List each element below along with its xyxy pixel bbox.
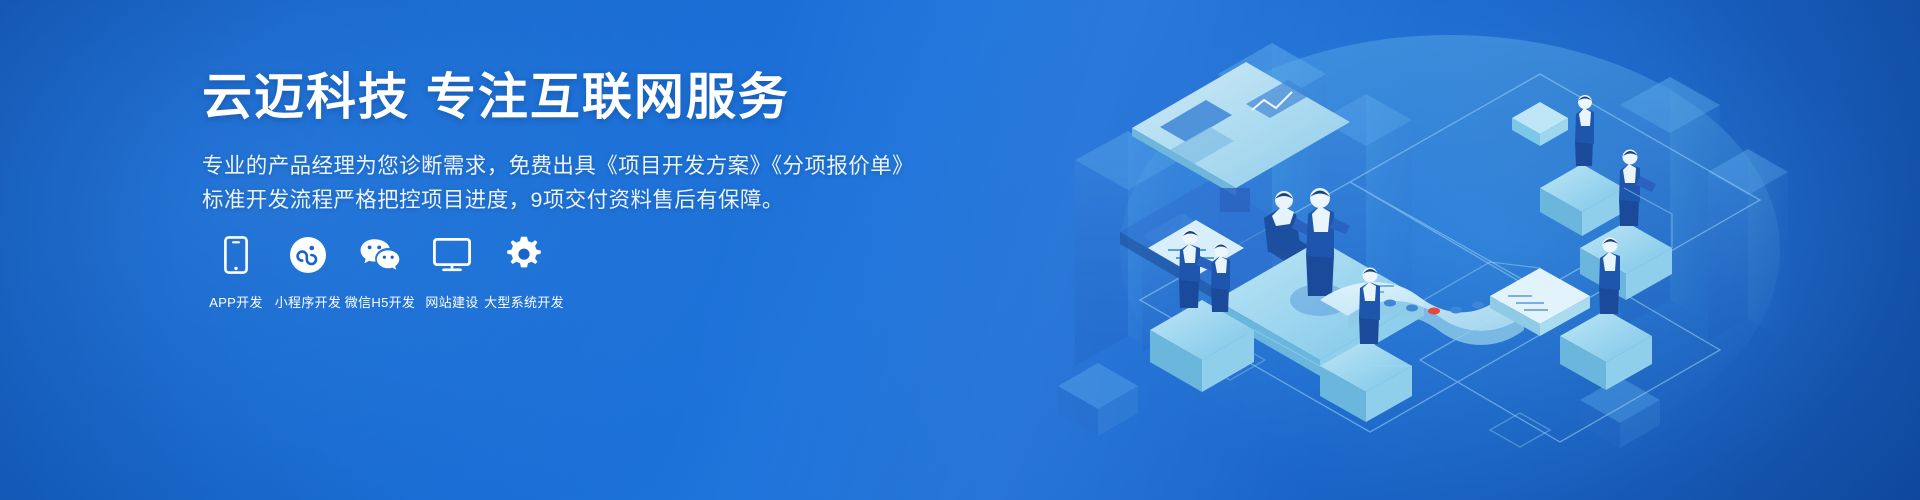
service-label-wechat: 微信H5开发 [345, 292, 415, 311]
isometric-illustration [1020, 0, 1920, 500]
service-item-app[interactable]: APP开发 [200, 232, 272, 311]
service-item-system[interactable]: 大型系统开发 [488, 232, 560, 311]
hero-subtitle: 专业的产品经理为您诊断需求，免费出具《项目开发方案》《分项报价单》 标准开发流程… [202, 149, 942, 217]
gear-icon [502, 232, 546, 278]
subtitle-line-2: 标准开发流程严格把控项目进度，9项交付资料售后有保障。 [202, 183, 942, 217]
hero-banner: 云迈科技 专注互联网服务 专业的产品经理为您诊断需求，免费出具《项目开发方案》《… [0, 0, 1920, 500]
service-item-website[interactable]: 网站建设 [416, 232, 488, 311]
service-item-wechat[interactable]: 微信H5开发 [344, 232, 416, 311]
wechat-icon [358, 232, 402, 278]
service-icon-row: APP开发 小程序开发 [200, 232, 560, 311]
desktop-monitor-icon [430, 232, 474, 278]
page-title: 云迈科技 专注互联网服务 [202, 68, 942, 127]
mobile-phone-icon [214, 232, 258, 278]
service-label-website: 网站建设 [425, 292, 478, 311]
service-label-app: APP开发 [209, 292, 263, 311]
subtitle-line-1: 专业的产品经理为您诊断需求，免费出具《项目开发方案》《分项报价单》 [202, 149, 942, 183]
service-label-system: 大型系统开发 [484, 292, 564, 311]
mini-program-icon [286, 232, 330, 278]
service-label-miniprogram: 小程序开发 [275, 292, 342, 311]
service-item-miniprogram[interactable]: 小程序开发 [272, 232, 344, 311]
hero-text-block: 云迈科技 专注互联网服务 专业的产品经理为您诊断需求，免费出具《项目开发方案》《… [202, 68, 942, 217]
